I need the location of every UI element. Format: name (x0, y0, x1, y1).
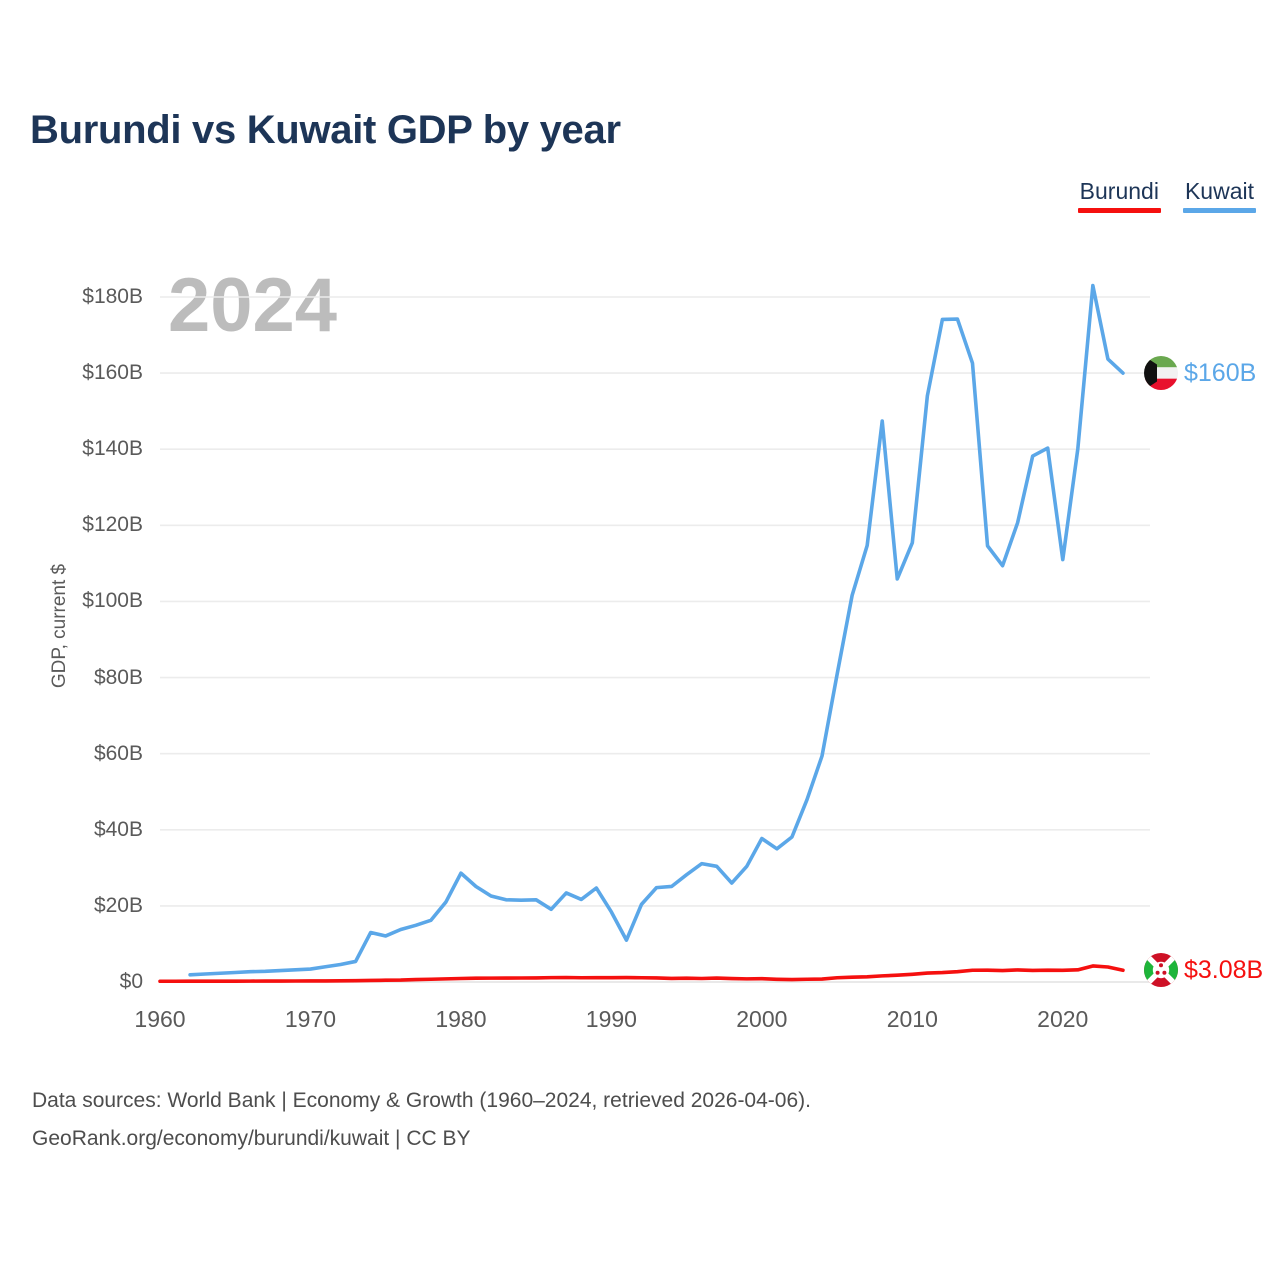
footer-line-2: GeoRank.org/economy/burundi/kuwait | CC … (32, 1120, 811, 1158)
x-axis-tick-label: 1970 (285, 1006, 336, 1033)
footer-sources: Data sources: World Bank | Economy & Gro… (32, 1082, 811, 1158)
x-axis-tick-label: 2000 (736, 1006, 787, 1033)
footer-line-1: Data sources: World Bank | Economy & Gro… (32, 1082, 811, 1120)
series-lines (160, 286, 1123, 982)
y-axis-tick-label: $160B (0, 361, 143, 385)
y-axis-tick-label: $20B (0, 894, 143, 918)
y-axis-tick-label: $180B (0, 285, 143, 309)
endpoint-label-burundi: $3.08B (1184, 956, 1263, 985)
x-axis-tick-label: 2010 (887, 1006, 938, 1033)
endpoint-label-kuwait: $160B (1184, 359, 1256, 388)
x-axis-tick-label: 1960 (134, 1006, 185, 1033)
x-axis-tick-label: 2020 (1037, 1006, 1088, 1033)
x-axis-tick-label: 1980 (435, 1006, 486, 1033)
y-axis-tick-label: $140B (0, 437, 143, 461)
chart-page: Burundi vs Kuwait GDP by year Burundi Ku… (0, 0, 1280, 1280)
y-axis-tick-label: $0 (0, 970, 143, 994)
burundi-flag-icon (1144, 953, 1178, 987)
y-axis-tick-label: $80B (0, 666, 143, 690)
series-line-kuwait (190, 286, 1123, 975)
y-axis-tick-label: $60B (0, 742, 143, 766)
kuwait-flag-icon (1144, 356, 1178, 390)
y-axis-tick-label: $100B (0, 589, 143, 613)
endpoint-burundi[interactable]: $3.08B (1144, 953, 1263, 987)
x-axis-tick-label: 1990 (586, 1006, 637, 1033)
y-axis-tick-label: $120B (0, 513, 143, 537)
y-axis-tick-label: $40B (0, 818, 143, 842)
gridlines (160, 297, 1150, 982)
endpoint-kuwait[interactable]: $160B (1144, 356, 1256, 390)
